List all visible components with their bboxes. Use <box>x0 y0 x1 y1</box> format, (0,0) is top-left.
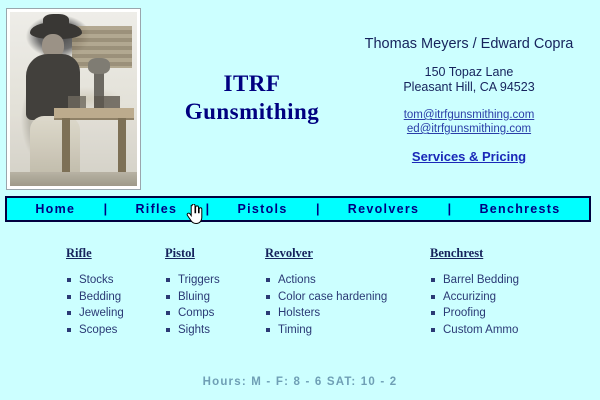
list-item[interactable]: Barrel Bedding <box>430 272 600 289</box>
list-item[interactable]: Comps <box>165 305 265 322</box>
nav-separator: | <box>316 202 320 216</box>
nav-item-revolvers[interactable]: Revolvers <box>344 202 423 216</box>
nav-item-benchrests[interactable]: Benchrests <box>475 202 564 216</box>
main-navigation: Home | Rifles | Pistols | Revolvers | Be… <box>5 196 591 222</box>
nav-separator: | <box>448 202 452 216</box>
list-item[interactable]: Holsters <box>265 305 430 322</box>
column-rifle: Rifle Stocks Bedding Jeweling Scopes <box>0 246 165 338</box>
photo-bench-top-detail <box>54 108 134 118</box>
contact-block: Thomas Meyers / Edward Copra 150 Topaz L… <box>340 36 598 166</box>
email-link-tom[interactable]: tom@itrfgunsmithing.com <box>340 108 598 122</box>
list-item[interactable]: Accurizing <box>430 289 600 306</box>
site-title-line-2: Gunsmithing <box>152 98 352 126</box>
column-benchrest: Benchrest Barrel Bedding Accurizing Proo… <box>430 246 600 338</box>
services-columns: Rifle Stocks Bedding Jeweling Scopes Pis… <box>0 246 600 338</box>
photo-tools-detail <box>68 96 134 108</box>
list-item[interactable]: Scopes <box>66 322 165 339</box>
list-item[interactable]: Proofing <box>430 305 600 322</box>
column-heading-rifle: Rifle <box>66 246 165 261</box>
email-link-ed[interactable]: ed@itrfgunsmithing.com <box>340 122 598 136</box>
column-list-revolver: Actions Color case hardening Holsters Ti… <box>265 272 430 338</box>
photo-bench-leg-left <box>62 118 70 174</box>
column-list-benchrest: Barrel Bedding Accurizing Proofing Custo… <box>430 272 600 338</box>
photo-bench-leg-right <box>118 118 126 174</box>
owner-names: Thomas Meyers / Edward Copra <box>340 36 598 52</box>
page-header: ITRF Gunsmithing Thomas Meyers / Edward … <box>0 0 600 190</box>
address-line-1: 150 Topaz Lane <box>340 65 598 80</box>
site-title-line-1: ITRF <box>152 70 352 98</box>
site-title: ITRF Gunsmithing <box>152 70 352 126</box>
list-item[interactable]: Bluing <box>165 289 265 306</box>
email-links: tom@itrfgunsmithing.com ed@itrfgunsmithi… <box>340 108 598 136</box>
column-revolver: Revolver Actions Color case hardening Ho… <box>265 246 430 338</box>
address: 150 Topaz Lane Pleasant Hill, CA 94523 <box>340 65 598 95</box>
column-list-rifle: Stocks Bedding Jeweling Scopes <box>66 272 165 338</box>
list-item[interactable]: Stocks <box>66 272 165 289</box>
gunsmith-photo-image <box>10 12 137 186</box>
list-item[interactable]: Actions <box>265 272 430 289</box>
business-hours: Hours: M - F: 8 - 6 SAT: 10 - 2 <box>0 376 600 388</box>
column-heading-pistol: Pistol <box>165 246 265 261</box>
list-item[interactable]: Sights <box>165 322 265 339</box>
list-item[interactable]: Timing <box>265 322 430 339</box>
column-heading-revolver: Revolver <box>265 246 430 261</box>
photo-floor-detail <box>10 172 137 186</box>
column-heading-benchrest: Benchrest <box>430 246 600 261</box>
address-line-2: Pleasant Hill, CA 94523 <box>340 80 598 95</box>
services-pricing-link[interactable]: Services & Pricing <box>412 149 526 164</box>
nav-item-rifles[interactable]: Rifles <box>131 202 181 216</box>
nav-item-pistols[interactable]: Pistols <box>234 202 292 216</box>
column-pistol: Pistol Triggers Bluing Comps Sights <box>165 246 265 338</box>
nav-item-home[interactable]: Home <box>31 202 79 216</box>
list-item[interactable]: Jeweling <box>66 305 165 322</box>
gunsmith-photo <box>6 8 141 190</box>
list-item[interactable]: Custom Ammo <box>430 322 600 339</box>
list-item[interactable]: Bedding <box>66 289 165 306</box>
list-item[interactable]: Triggers <box>165 272 265 289</box>
list-item[interactable]: Color case hardening <box>265 289 430 306</box>
nav-separator: | <box>104 202 108 216</box>
photo-legs-detail <box>30 116 80 178</box>
nav-separator: | <box>206 202 210 216</box>
column-list-pistol: Triggers Bluing Comps Sights <box>165 272 265 338</box>
